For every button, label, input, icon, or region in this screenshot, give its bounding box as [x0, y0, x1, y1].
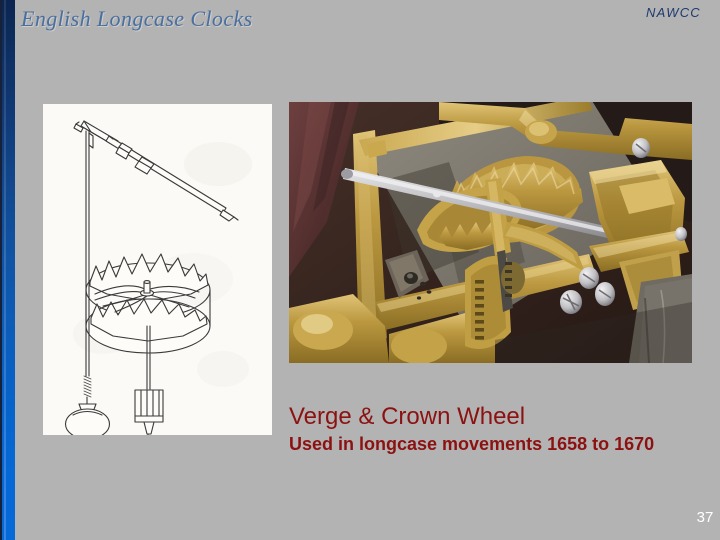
page-title: English Longcase Clocks [21, 6, 253, 32]
photo-svg [289, 102, 692, 363]
slide-canvas: English Longcase Clocks NAWCC .ln { fill… [0, 0, 720, 540]
diagram-svg: .ln { fill:none; stroke:#3a3a3a; stroke-… [43, 104, 272, 435]
caption-heading: Verge & Crown Wheel [289, 403, 525, 431]
page-number: 37 [694, 509, 716, 526]
verge-escapement-diagram: .ln { fill:none; stroke:#3a3a3a; stroke-… [43, 104, 272, 435]
organization-logo: NAWCC [646, 5, 701, 20]
accent-bar-highlight [4, 0, 6, 540]
movement-photograph [289, 102, 692, 363]
caption-subheading: Used in longcase movements 1658 to 1670 [289, 434, 654, 455]
